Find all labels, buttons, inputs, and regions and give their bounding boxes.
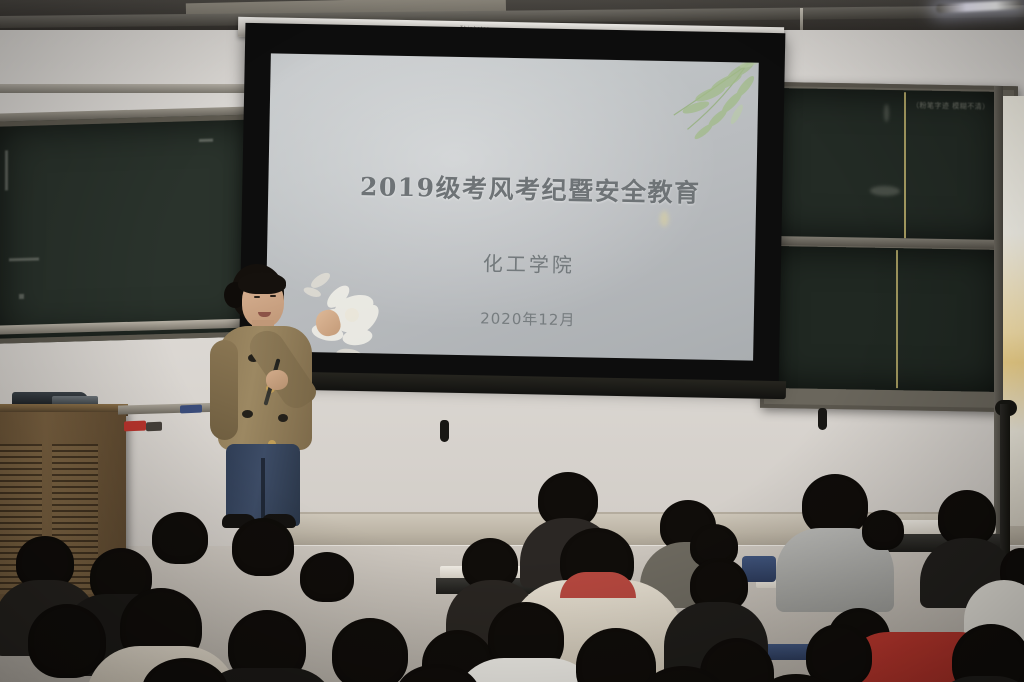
audience-head bbox=[232, 518, 294, 576]
bamboo-leaf-icon bbox=[643, 53, 759, 162]
dark-eraser-item bbox=[146, 422, 162, 432]
right-blackboard-lower-panel bbox=[766, 246, 1002, 392]
audience-head bbox=[806, 624, 872, 682]
presenter-left-arm bbox=[210, 340, 238, 440]
presenter-raised-hand bbox=[313, 307, 343, 338]
right-blackboard: （粉笔字迹 模糊不清） bbox=[760, 82, 1018, 413]
blackboard-chalk-note: （粉笔字迹 模糊不清） bbox=[912, 100, 998, 144]
presenter-lower-hand bbox=[266, 370, 288, 390]
screen-hook-left bbox=[440, 420, 449, 442]
hoodie-red-collar bbox=[560, 572, 636, 598]
red-eraser-item bbox=[124, 421, 146, 432]
blackboard-divider-upper bbox=[904, 92, 906, 238]
wall-rail bbox=[0, 84, 260, 93]
presenter-fringe bbox=[238, 272, 286, 294]
audience-head bbox=[300, 552, 354, 602]
audience-head bbox=[802, 474, 868, 536]
audience-head bbox=[332, 618, 408, 682]
audience-head bbox=[152, 512, 208, 564]
screen-hook-right bbox=[818, 408, 827, 430]
classroom-photo-scene: （粉笔字迹 模糊不清） Thinkstar bbox=[0, 0, 1024, 682]
blackboard-divider-lower bbox=[896, 250, 898, 388]
right-blackboard-upper-panel: （粉笔字迹 模糊不清） bbox=[766, 88, 1002, 242]
audience-head bbox=[28, 604, 106, 678]
slide-title: 2019级考风考纪暨安全教育 bbox=[330, 167, 731, 211]
seated-audience bbox=[0, 452, 1024, 682]
audience-head bbox=[862, 510, 904, 550]
